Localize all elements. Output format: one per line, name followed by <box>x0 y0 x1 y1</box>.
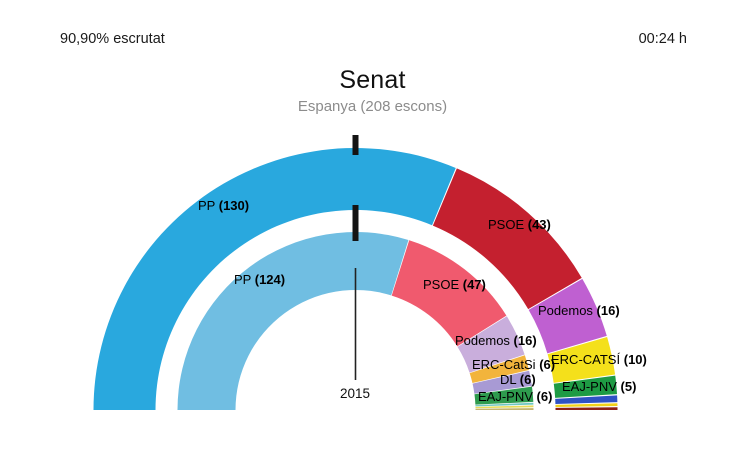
reference-year-label: 2015 <box>340 386 370 401</box>
apex-tick-inner <box>353 205 359 241</box>
apex-tick-outer <box>353 135 359 155</box>
hemicycle-chart <box>0 0 745 459</box>
arc-segment-stripe-3[interactable] <box>555 407 617 410</box>
arc-segment-stripe-2[interactable] <box>555 403 617 407</box>
chart-canvas: 90,90% escrutat 00:24 h Senat Espanya (2… <box>0 0 745 459</box>
arc-segment-stripe-3[interactable] <box>475 408 533 410</box>
